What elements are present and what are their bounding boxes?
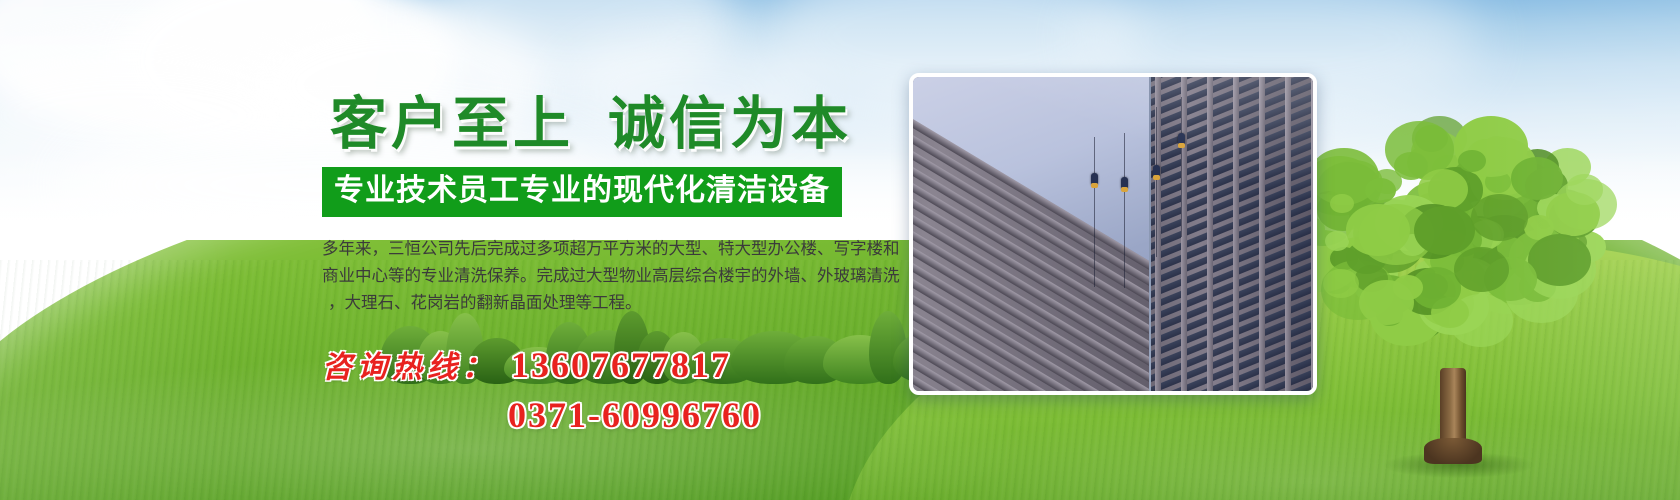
paragraph-line: 多年来，三恒公司先后完成过多项超万平方米的大型、特大型办公楼、写字楼和 [322,235,894,262]
foliage-blob [1454,247,1508,292]
foliage-blob [1346,204,1409,256]
foliage-blob [1330,194,1354,214]
foliage-blob [1325,231,1349,251]
headline-part-2: 诚信为本 [608,93,852,156]
photo-gloss [913,77,1313,391]
tree-illustration [1288,112,1618,472]
hotline-secondary-row: 0371-60996760 [322,394,902,436]
headline-part-1: 客户至上 [330,93,574,156]
foliage-blob [1458,150,1485,173]
paragraph-line: 商业中心等的专业清洗保养。完成过大型物业高层综合楼宇的外墙、外玻璃清洗 [322,262,894,289]
hotline-label: 咨询热线： [322,342,497,386]
description-paragraph: 多年来，三恒公司先后完成过多项超万平方米的大型、特大型办公楼、写字楼和 商业中心… [322,235,894,316]
hotline-mobile-number[interactable]: 13607677817 [511,344,731,386]
foliage-blob [1414,206,1474,255]
foliage-blob [1528,234,1591,286]
tree-trunk [1440,368,1466,464]
paragraph-line: ，大理石、花岗岩的翻新晶面处理等工程。 [322,289,894,316]
foliage-blob [1471,194,1528,241]
promo-banner: 客户至上诚信为本 专业技术员工专业的现代化清洁设备 多年来，三恒公司先后完成过多… [0,0,1680,500]
subtitle-badge: 专业技术员工专业的现代化清洁设备 [322,167,842,217]
tree-canopy [1288,112,1618,380]
page-title: 客户至上诚信为本 [330,96,902,153]
building-cleaning-photo[interactable] [909,73,1317,395]
hotline-primary-row: 咨询热线： 13607677817 [322,342,902,386]
foliage-blob [1365,178,1396,203]
hotline-block: 咨询热线： 13607677817 0371-60996760 [322,342,902,436]
foliage-blob [1511,157,1563,200]
hotline-landline-number[interactable]: 0371-60996760 [508,394,762,436]
foliage-blob [1566,174,1603,204]
banner-copy: 客户至上诚信为本 专业技术员工专业的现代化清洁设备 多年来，三恒公司先后完成过多… [322,96,902,436]
foliage-blob [1359,280,1414,325]
